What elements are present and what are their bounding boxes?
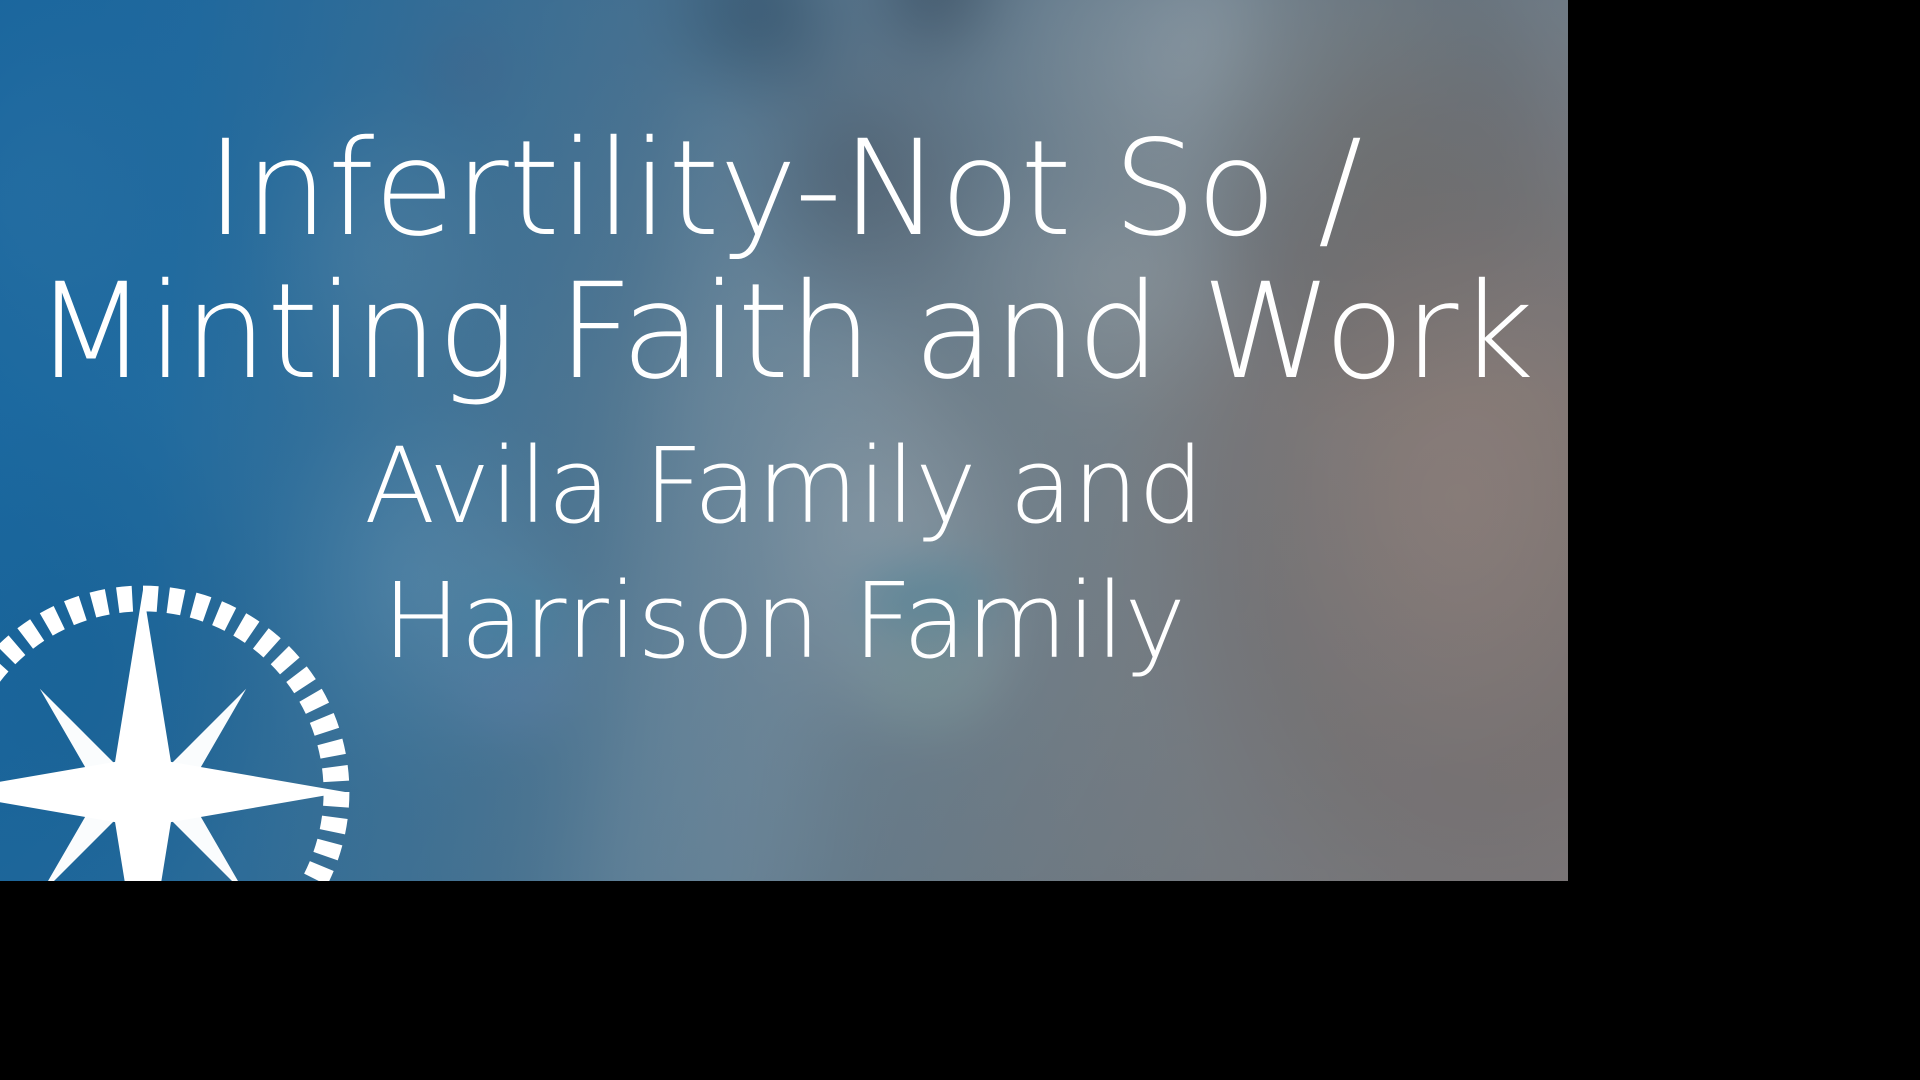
slide-text-block: Infertility-Not So / Minting Faith and W… xyxy=(0,0,1568,881)
slide-title: Infertility-Not So / Minting Faith and W… xyxy=(34,118,1534,403)
slide-title-line-1: Infertility-Not So / xyxy=(34,118,1534,261)
slide-subtitle: Avila Family and Harrison Family xyxy=(364,419,1204,689)
slide-title-line-2: Minting Faith and Work xyxy=(34,261,1534,404)
slide-subtitle-line-2: Harrison Family xyxy=(364,554,1204,689)
title-slide: Infertility-Not So / Minting Faith and W… xyxy=(0,0,1568,881)
slide-subtitle-line-1: Avila Family and xyxy=(364,419,1204,554)
